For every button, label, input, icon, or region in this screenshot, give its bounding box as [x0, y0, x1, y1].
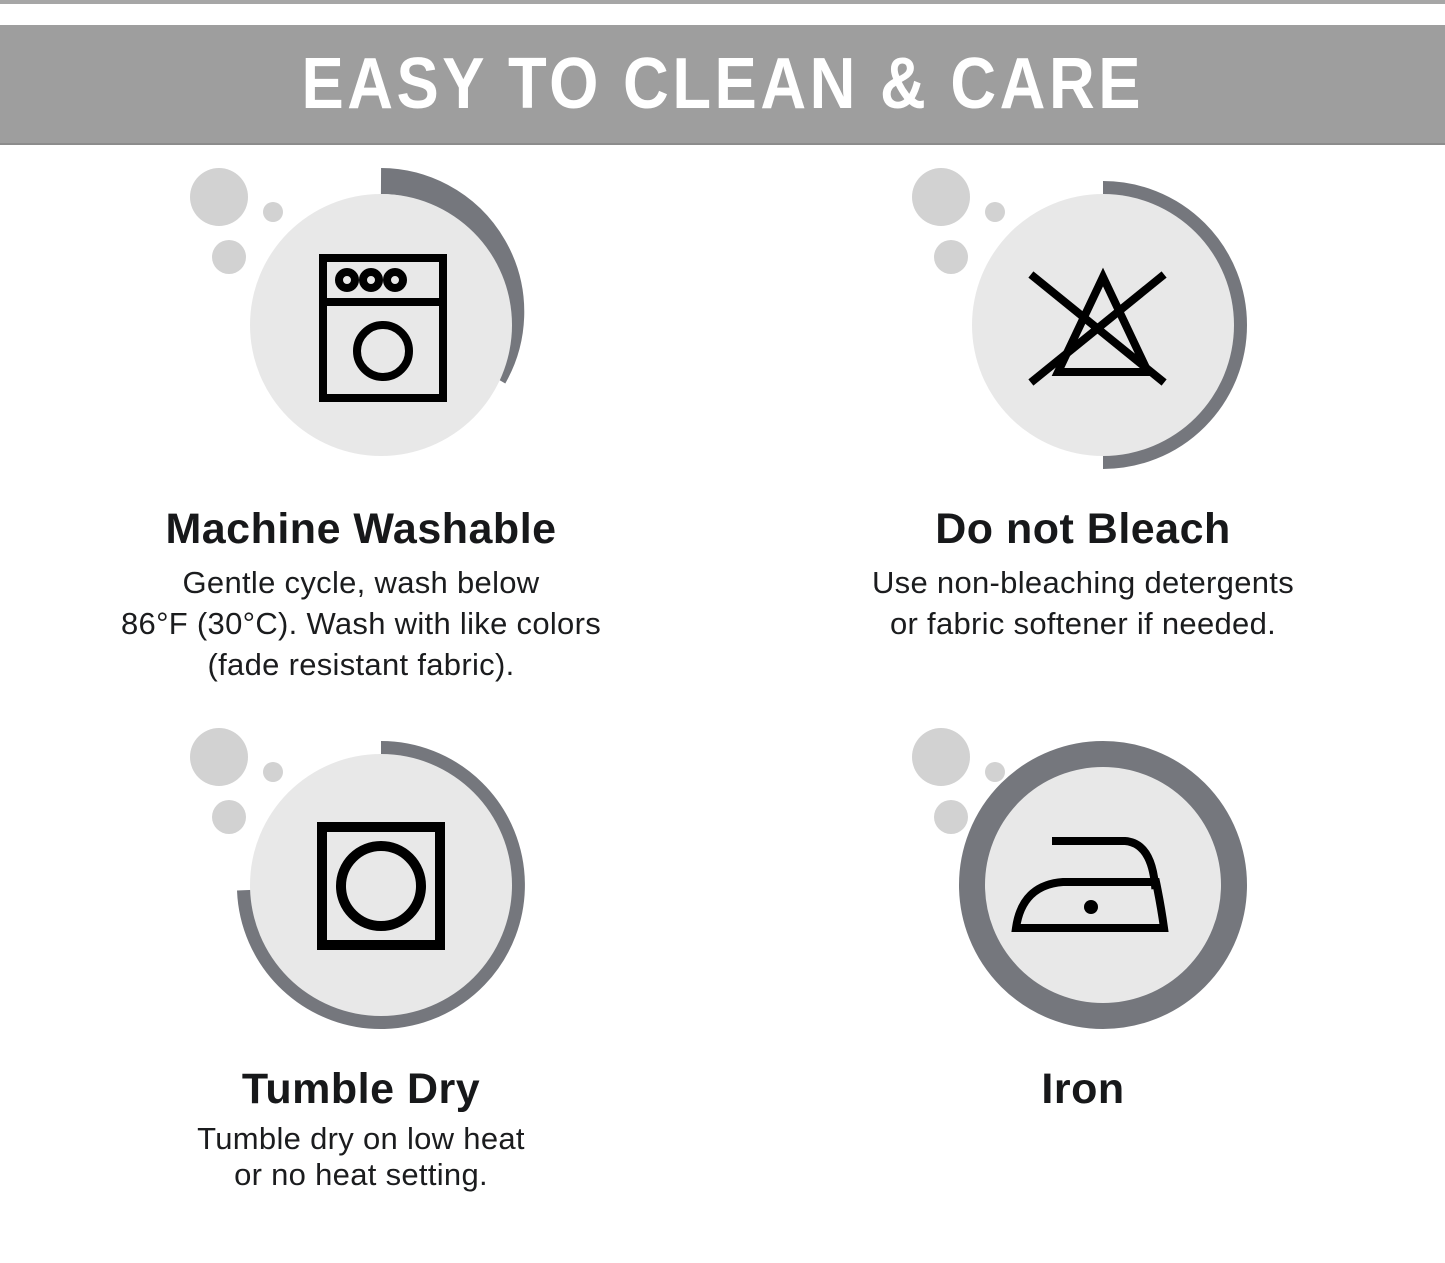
care-card-do-not-bleach: Do not Bleach Use non-bleaching detergen…: [722, 150, 1444, 645]
icon-badge: [181, 710, 541, 1050]
care-card-tumble-dry: Tumble Dry Tumble dry on low heat or no …: [0, 710, 722, 1193]
card-title: Iron: [722, 1066, 1444, 1113]
description-line: Tumble dry on low heat: [31, 1121, 691, 1157]
do-not-bleach-icon: [903, 150, 1263, 490]
icon-badge: [903, 150, 1263, 490]
header-banner: EASY TO CLEAN & CARE: [0, 25, 1445, 145]
icon-badge: [181, 150, 541, 490]
description-line: (fade resistant fabric).: [31, 645, 691, 686]
description-line: or no heat setting.: [31, 1157, 691, 1193]
card-title: Do not Bleach: [722, 506, 1444, 553]
tumble-dry-icon: [181, 710, 541, 1050]
washing-machine-icon: [181, 150, 541, 490]
top-divider-rule: [0, 0, 1445, 4]
card-title: Machine Washable: [0, 506, 722, 553]
description-line: 86°F (30°C). Wash with like colors: [31, 604, 691, 645]
care-card-grid: Machine Washable Gentle cycle, wash belo…: [0, 150, 1445, 1263]
description-line: or fabric softener if needed.: [753, 604, 1413, 645]
card-description: Gentle cycle, wash below 86°F (30°C). Wa…: [31, 563, 691, 686]
card-description: Tumble dry on low heat or no heat settin…: [31, 1121, 691, 1193]
iron-icon: [903, 710, 1263, 1050]
description-line: Gentle cycle, wash below: [31, 563, 691, 604]
care-card-iron: Iron: [722, 710, 1444, 1123]
card-description: Use non-bleaching detergents or fabric s…: [753, 563, 1413, 645]
description-line: Use non-bleaching detergents: [753, 563, 1413, 604]
care-card-machine-washable: Machine Washable Gentle cycle, wash belo…: [0, 150, 722, 686]
card-title: Tumble Dry: [0, 1066, 722, 1113]
icon-badge: [903, 710, 1263, 1050]
page-title: EASY TO CLEAN & CARE: [301, 48, 1144, 120]
